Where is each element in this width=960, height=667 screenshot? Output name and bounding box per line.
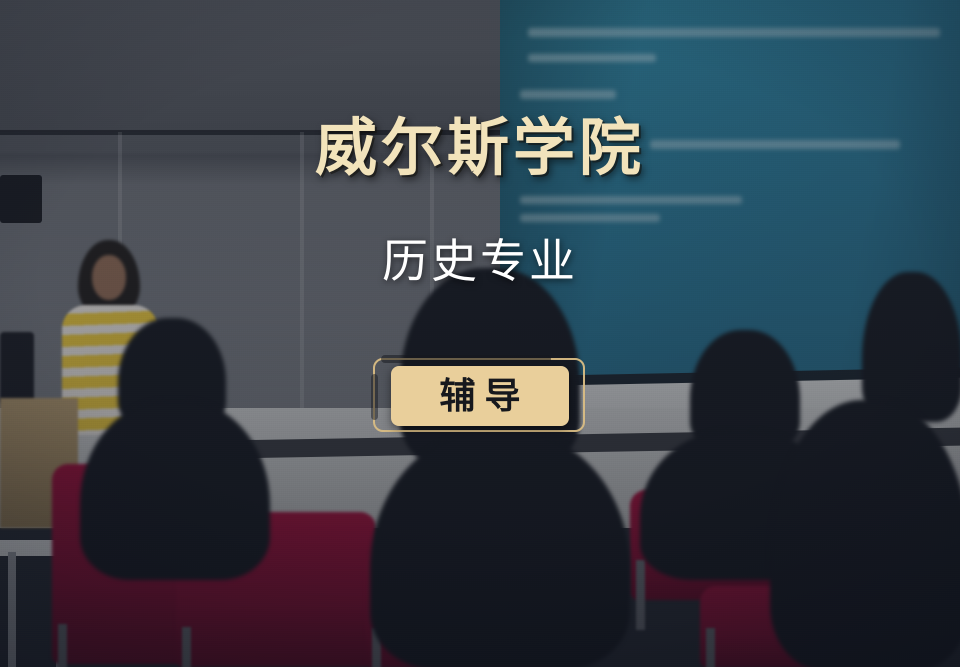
poster-subtitle: 历史专业 xyxy=(382,238,578,284)
page-title: 威尔斯学院 xyxy=(315,118,645,180)
promo-poster: 威尔斯学院 历史专业 辅导 xyxy=(0,0,960,667)
tutoring-cta-button[interactable]: 辅导 xyxy=(391,366,569,426)
cta-container: 辅导 xyxy=(373,358,587,434)
cta-button-label: 辅导 xyxy=(430,378,529,414)
poster-text-overlay: 威尔斯学院 历史专业 辅导 xyxy=(0,0,960,667)
